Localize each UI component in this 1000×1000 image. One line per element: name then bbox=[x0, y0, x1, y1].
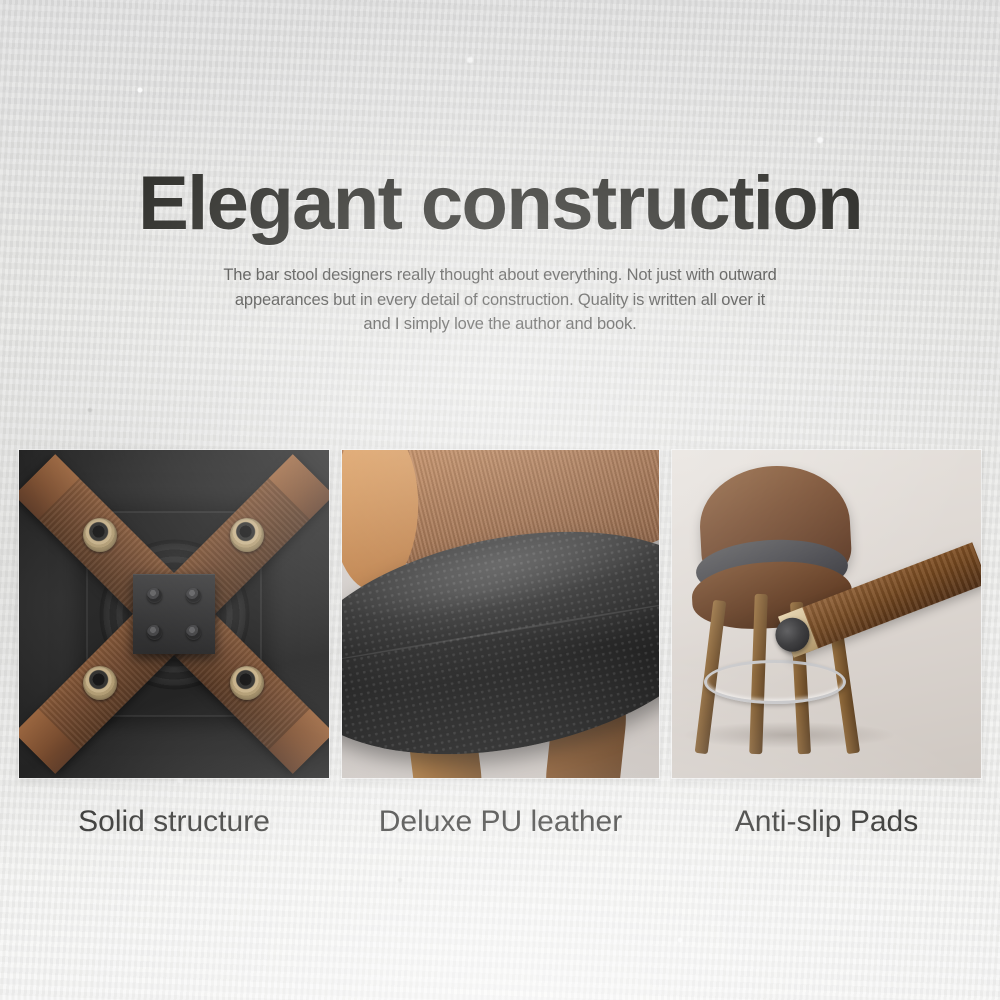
page-title: Elegant construction bbox=[0, 162, 1000, 246]
brass-screw-fitting bbox=[230, 666, 264, 700]
feature-card-solid-structure bbox=[19, 450, 329, 778]
chrome-footrest-ring bbox=[704, 660, 846, 704]
brass-screw-fitting bbox=[83, 666, 117, 700]
caption-deluxe-pu-leather: Deluxe PU leather bbox=[342, 800, 659, 844]
feature-card-anti-slip-pads bbox=[672, 450, 981, 778]
feature-card-pu-leather bbox=[342, 450, 659, 778]
image-leather-seat bbox=[342, 450, 659, 778]
mounting-bolt bbox=[147, 588, 162, 603]
mounting-bolt bbox=[186, 625, 201, 640]
caption-solid-structure: Solid structure bbox=[19, 800, 329, 844]
feature-image-row bbox=[19, 450, 981, 778]
mounting-bolt bbox=[186, 588, 201, 603]
brace-end bbox=[269, 454, 329, 519]
brace-end bbox=[19, 454, 79, 519]
brass-screw-fitting bbox=[83, 518, 117, 552]
image-stool-and-pad bbox=[672, 450, 981, 778]
mounting-bolt bbox=[147, 625, 162, 640]
feature-caption-row: Solid structure Deluxe PU leather Anti-s… bbox=[19, 800, 981, 848]
caption-anti-slip-pads: Anti-slip Pads bbox=[672, 800, 981, 844]
image-cross-brace bbox=[19, 450, 329, 778]
brass-screw-fitting bbox=[230, 518, 264, 552]
product-feature-page: Elegant construction The bar stool desig… bbox=[0, 0, 1000, 1000]
description-paragraph: The bar stool designers really thought a… bbox=[223, 263, 777, 337]
brace-end bbox=[269, 709, 329, 774]
brace-end bbox=[19, 709, 79, 774]
center-mounting-plate bbox=[133, 574, 215, 654]
